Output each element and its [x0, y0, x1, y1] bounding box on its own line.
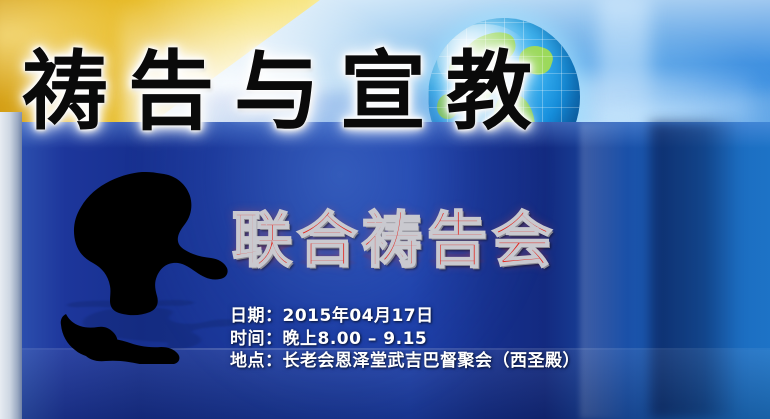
detail-label-date: 日期：	[230, 306, 283, 326]
left-edge-strip	[0, 112, 22, 419]
detail-value-venue: 长老会恩泽堂武吉巴督聚会（西圣殿）	[283, 351, 581, 371]
praying-person-silhouette-icon	[38, 168, 238, 364]
event-details: 日期：2015年04月17日 时间：晚上8.00 – 9.15 地点：长老会恩泽…	[230, 305, 580, 373]
event-title: 联合祷告会	[232, 208, 557, 274]
detail-row-venue: 地点：长老会恩泽堂武吉巴督聚会（西圣殿）	[230, 350, 580, 373]
page-title: 祷告与宣教	[22, 38, 662, 146]
detail-label-venue: 地点：	[230, 351, 283, 371]
detail-row-time: 时间：晚上8.00 – 9.15	[230, 328, 580, 351]
poster-canvas: 祷告与宣教 联合祷告会 联合祷告会 日期：2015年04月17日 时间：晚上8.…	[0, 0, 770, 419]
detail-value-date: 2015年04月17日	[283, 306, 434, 326]
detail-label-time: 时间：	[230, 329, 283, 349]
detail-row-date: 日期：2015年04月17日	[230, 305, 580, 328]
detail-value-time: 晚上8.00 – 9.15	[283, 329, 428, 349]
